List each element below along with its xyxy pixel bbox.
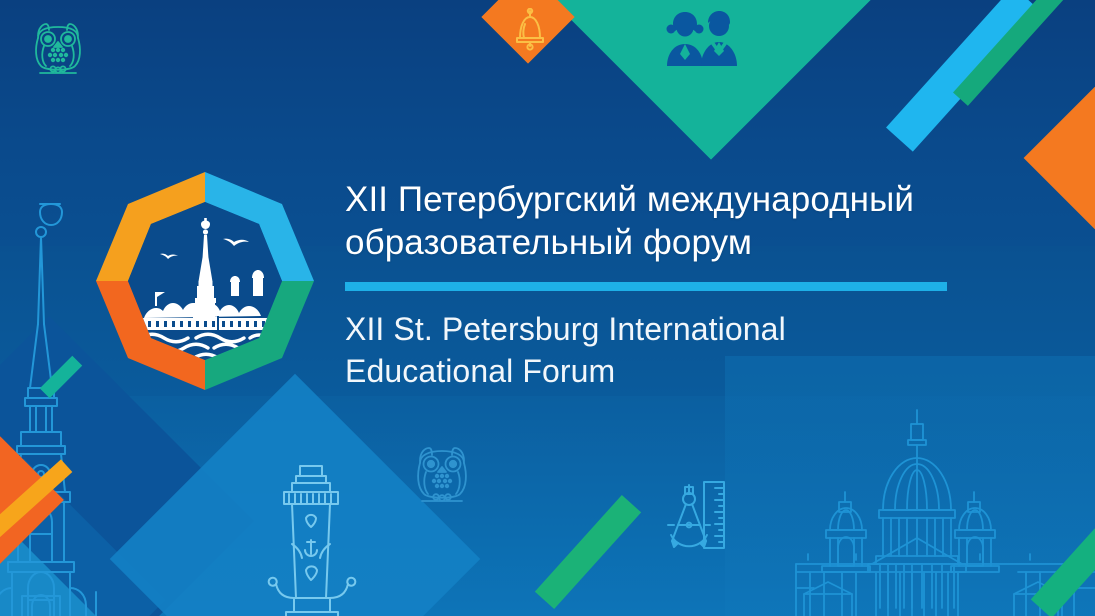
poster-canvas: XII Петербургский международный образова… — [0, 0, 1095, 616]
title-english: XII St. Petersburg International Educati… — [345, 309, 1035, 392]
title-divider — [345, 282, 947, 291]
title-russian-line-2: образовательный форум — [345, 223, 752, 262]
forum-emblem — [86, 166, 324, 404]
title-russian-line-1: XII Петербургский международный — [345, 180, 914, 219]
title-english-line-1: XII St. Petersburg International — [345, 311, 786, 347]
background-diagonal-right — [725, 356, 1095, 616]
title-english-line-2: Educational Forum — [345, 353, 615, 389]
title-russian: XII Петербургский международный образова… — [345, 178, 1035, 264]
title-block: XII Петербургский международный образова… — [345, 178, 1035, 392]
